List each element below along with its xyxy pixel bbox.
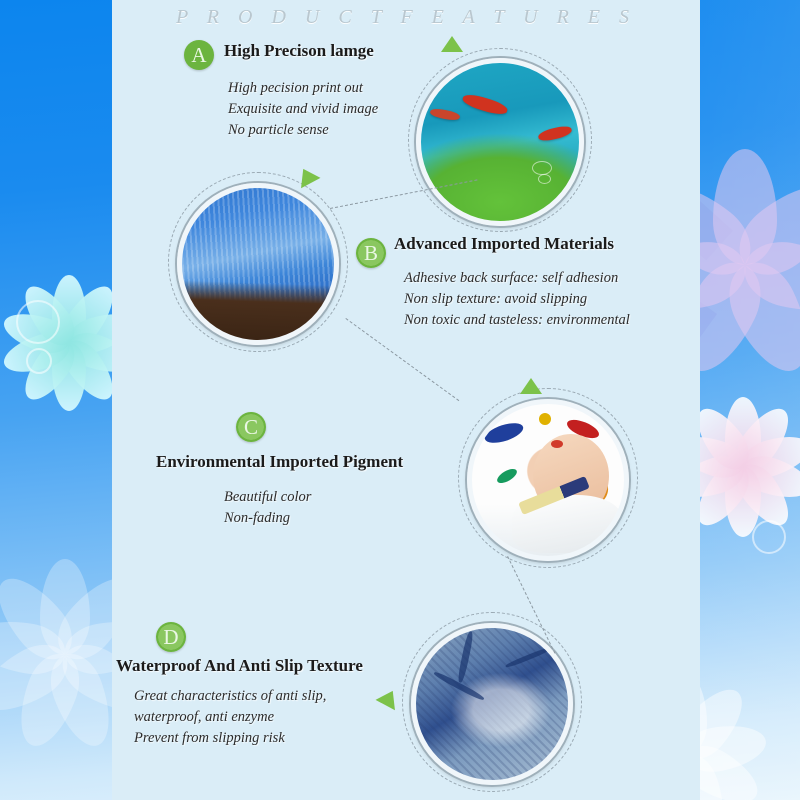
feature-badge-d: D [156,622,186,652]
photo-a-wrap [408,48,592,232]
product-features-poster: P R O D U C T F E A T U R E S A High Pre… [0,0,800,800]
painting-baby-photo [467,399,629,561]
page-title: P R O D U C T F E A T U R E S [112,6,700,29]
swirl-decor [26,348,52,374]
feature-badge-a: A [184,40,214,70]
water-streak [456,631,474,683]
feature-line: Non slip texture: avoid slipping [404,289,630,310]
feature-body-d: Great characteristics of anti slip, wate… [134,686,326,749]
feature-line: Beautiful color [224,487,311,508]
water-ripple [532,161,552,175]
pointer-arrow-c [520,378,542,394]
feature-line: Great characteristics of anti slip, [134,686,326,707]
swirl-decor [752,520,786,554]
koi-fish-shape [537,124,573,142]
feature-line: Prevent from slipping risk [134,728,326,749]
feature-line: waterproof, anti enzyme [134,707,326,728]
feature-body-c: Beautiful color Non-fading [224,487,311,529]
feature-line: Exquisite and vivid image [228,99,378,120]
feature-line: Non toxic and tasteless: environmental [404,310,630,331]
koi-pond-photo [416,58,584,226]
koi-fish-shape [461,91,509,118]
feature-body-b: Adhesive back surface: self adhesion Non… [404,268,630,331]
koi-fish-shape [430,107,461,122]
photo-c-wrap [458,388,638,568]
feature-body-a: High pecision print out Exquisite and vi… [228,78,378,141]
feature-badge-b: B [356,238,386,268]
feature-heading-b: Advanced Imported Materials [394,234,614,254]
water-droplet-texture-photo [411,623,573,785]
photo-d-wrap [402,612,582,792]
paint-splatter [483,419,526,447]
water-ripple [538,174,551,184]
feature-line: Adhesive back surface: self adhesion [404,268,630,289]
feature-heading-c: Environmental Imported Pigment [156,452,403,472]
paint-splatter [495,466,519,486]
feature-line: High pecision print out [228,78,378,99]
photo-b-wrap [168,172,348,352]
paint-splatter [539,413,551,425]
swirl-decor [16,300,60,344]
blue-fabric-texture-photo [177,183,339,345]
pointer-arrow-a [441,36,463,52]
water-streak [505,647,551,670]
feature-heading-d: Waterproof And Anti Slip Texture [116,656,363,676]
feature-heading-a: High Precison lamge [224,41,374,61]
feature-line: No particle sense [228,120,378,141]
feature-line: Non-fading [224,508,311,529]
feature-badge-c: C [236,412,266,442]
